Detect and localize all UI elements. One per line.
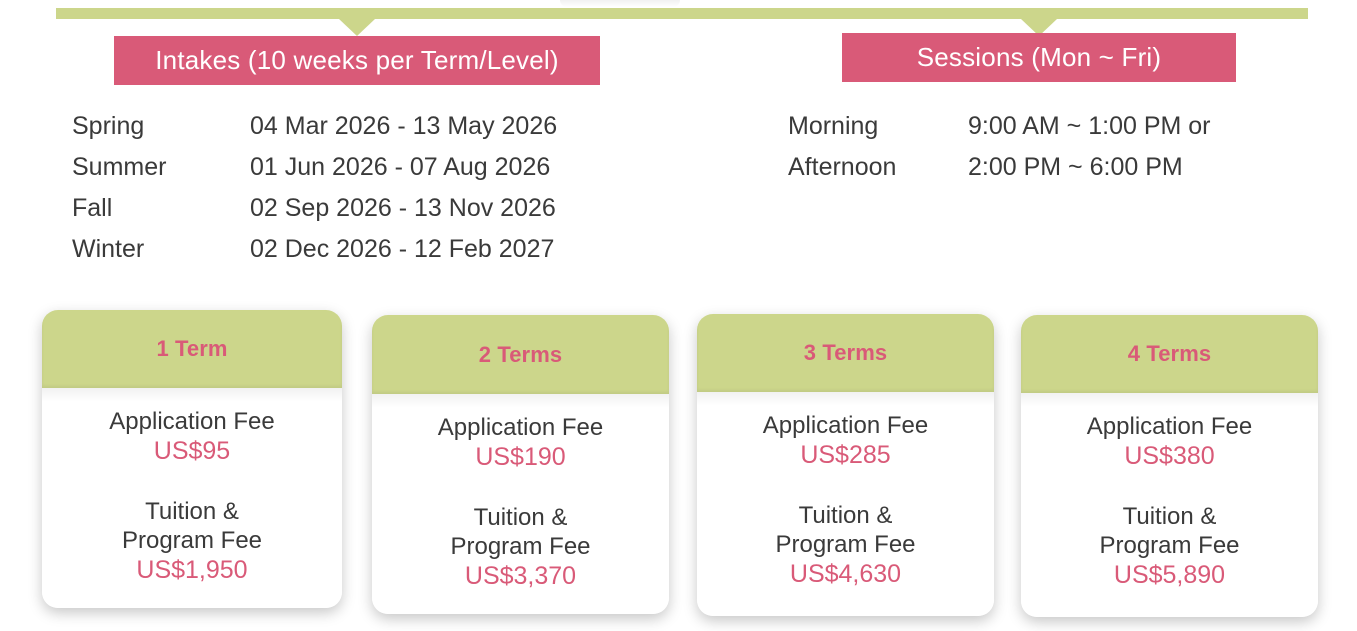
application-fee-amount: US$95 bbox=[109, 436, 274, 466]
pricing-card-header: 4 Terms bbox=[1021, 315, 1318, 393]
tuition-fee-amount: US$1,950 bbox=[122, 555, 262, 585]
tuition-fee-block: Tuition & Program Fee US$5,890 bbox=[1099, 503, 1239, 590]
application-fee-amount: US$380 bbox=[1087, 441, 1252, 471]
pricing-card-body: Application Fee US$380 Tuition & Program… bbox=[1021, 393, 1318, 617]
pricing-card-1-term[interactable]: 1 Term Application Fee US$95 Tuition & P… bbox=[42, 310, 342, 608]
pricing-card-header: 2 Terms bbox=[372, 315, 669, 394]
pricing-card-header: 1 Term bbox=[42, 310, 342, 388]
application-fee-amount: US$190 bbox=[438, 442, 603, 472]
application-fee-block: Application Fee US$380 bbox=[1087, 413, 1252, 471]
tuition-fee-label-line2: Program Fee bbox=[122, 527, 262, 555]
application-fee-label: Application Fee bbox=[763, 412, 928, 440]
pricing-card-title: 4 Terms bbox=[1128, 341, 1211, 367]
pricing-card-body: Application Fee US$190 Tuition & Program… bbox=[372, 394, 669, 614]
application-fee-block: Application Fee US$95 bbox=[109, 408, 274, 466]
tuition-fee-label-line1: Tuition & bbox=[450, 504, 590, 532]
tuition-fee-label-line2: Program Fee bbox=[775, 531, 915, 559]
tuition-fee-label-line1: Tuition & bbox=[775, 502, 915, 530]
tuition-fee-block: Tuition & Program Fee US$1,950 bbox=[122, 498, 262, 585]
application-fee-amount: US$285 bbox=[763, 440, 928, 470]
pricing-card-2-terms[interactable]: 2 Terms Application Fee US$190 Tuition &… bbox=[372, 315, 669, 614]
application-fee-label: Application Fee bbox=[438, 414, 603, 442]
pricing-card-3-terms[interactable]: 3 Terms Application Fee US$285 Tuition &… bbox=[697, 314, 994, 616]
tuition-fee-label-line2: Program Fee bbox=[1099, 532, 1239, 560]
pricing-card-title: 2 Terms bbox=[479, 342, 562, 368]
pricing-card-body: Application Fee US$285 Tuition & Program… bbox=[697, 392, 994, 616]
tuition-fee-amount: US$5,890 bbox=[1099, 560, 1239, 590]
pricing-card-title: 3 Terms bbox=[804, 340, 887, 366]
application-fee-block: Application Fee US$285 bbox=[763, 412, 928, 470]
pricing-card-group: 1 Term Application Fee US$95 Tuition & P… bbox=[0, 0, 1357, 631]
tuition-fee-label-line1: Tuition & bbox=[1099, 503, 1239, 531]
tuition-fee-amount: US$4,630 bbox=[775, 559, 915, 589]
pricing-card-header: 3 Terms bbox=[697, 314, 994, 392]
application-fee-label: Application Fee bbox=[109, 408, 274, 436]
tuition-fee-label-line1: Tuition & bbox=[122, 498, 262, 526]
tuition-fee-block: Tuition & Program Fee US$4,630 bbox=[775, 502, 915, 589]
tuition-fee-block: Tuition & Program Fee US$3,370 bbox=[450, 504, 590, 591]
pricing-card-4-terms[interactable]: 4 Terms Application Fee US$380 Tuition &… bbox=[1021, 315, 1318, 617]
application-fee-block: Application Fee US$190 bbox=[438, 414, 603, 472]
pricing-card-body: Application Fee US$95 Tuition & Program … bbox=[42, 388, 342, 608]
pricing-card-title: 1 Term bbox=[156, 336, 227, 362]
tuition-fee-amount: US$3,370 bbox=[450, 561, 590, 591]
tuition-fee-label-line2: Program Fee bbox=[450, 533, 590, 561]
application-fee-label: Application Fee bbox=[1087, 413, 1252, 441]
